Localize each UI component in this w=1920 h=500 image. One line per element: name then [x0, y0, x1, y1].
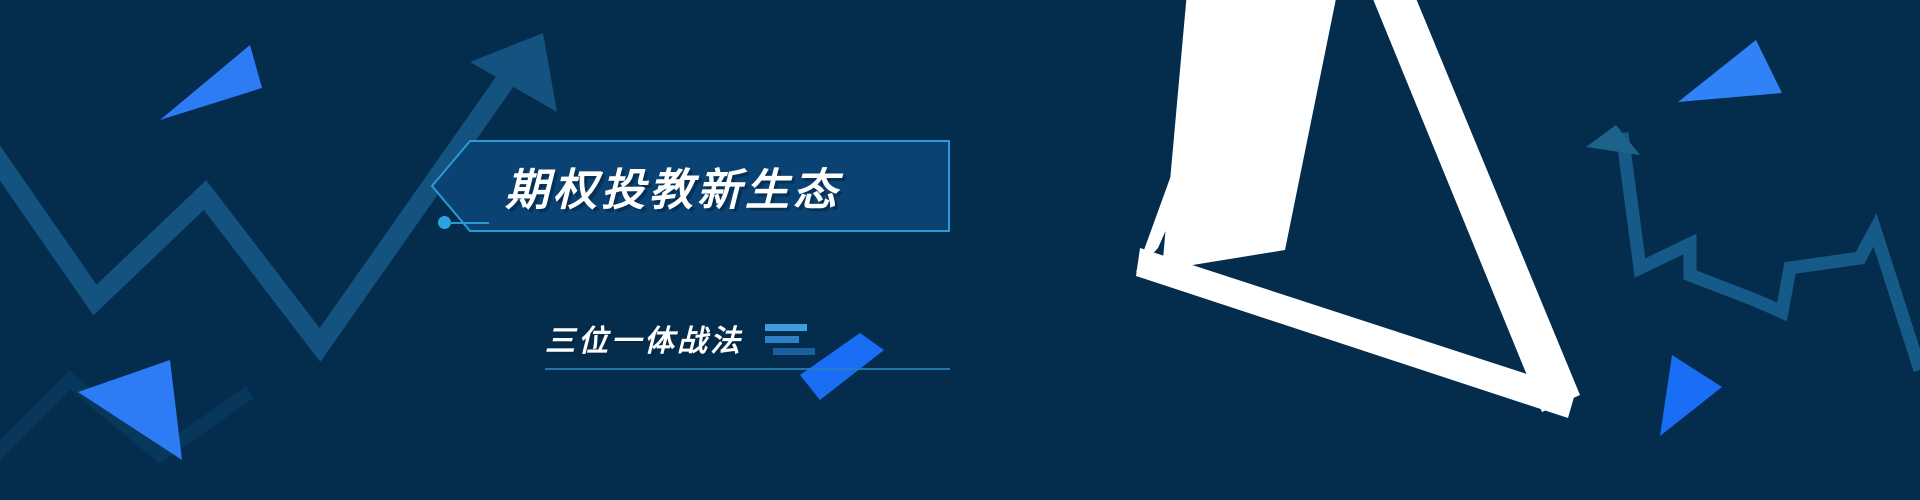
connector-line [449, 219, 489, 227]
banner-root: 期权投教新生态 三位一体战法 期权宝 工具箱 期权模拟交易系统 演练场 [0, 0, 1920, 500]
triangle-outline-icon [940, 0, 1920, 500]
page-title: 期权投教新生态 [505, 152, 885, 220]
triangle-diagram: 期权宝 工具箱 期权模拟交易系统 演练场 方法论 期权宝学院 [940, 0, 1920, 500]
subtitle-text: 三位一体战法 [545, 316, 743, 360]
title-block: 期权投教新生态 三位一体战法 [0, 0, 980, 500]
subtitle-divider [545, 368, 950, 370]
three-bars-icon [765, 322, 807, 355]
subtitle-row: 三位一体战法 [545, 316, 807, 360]
